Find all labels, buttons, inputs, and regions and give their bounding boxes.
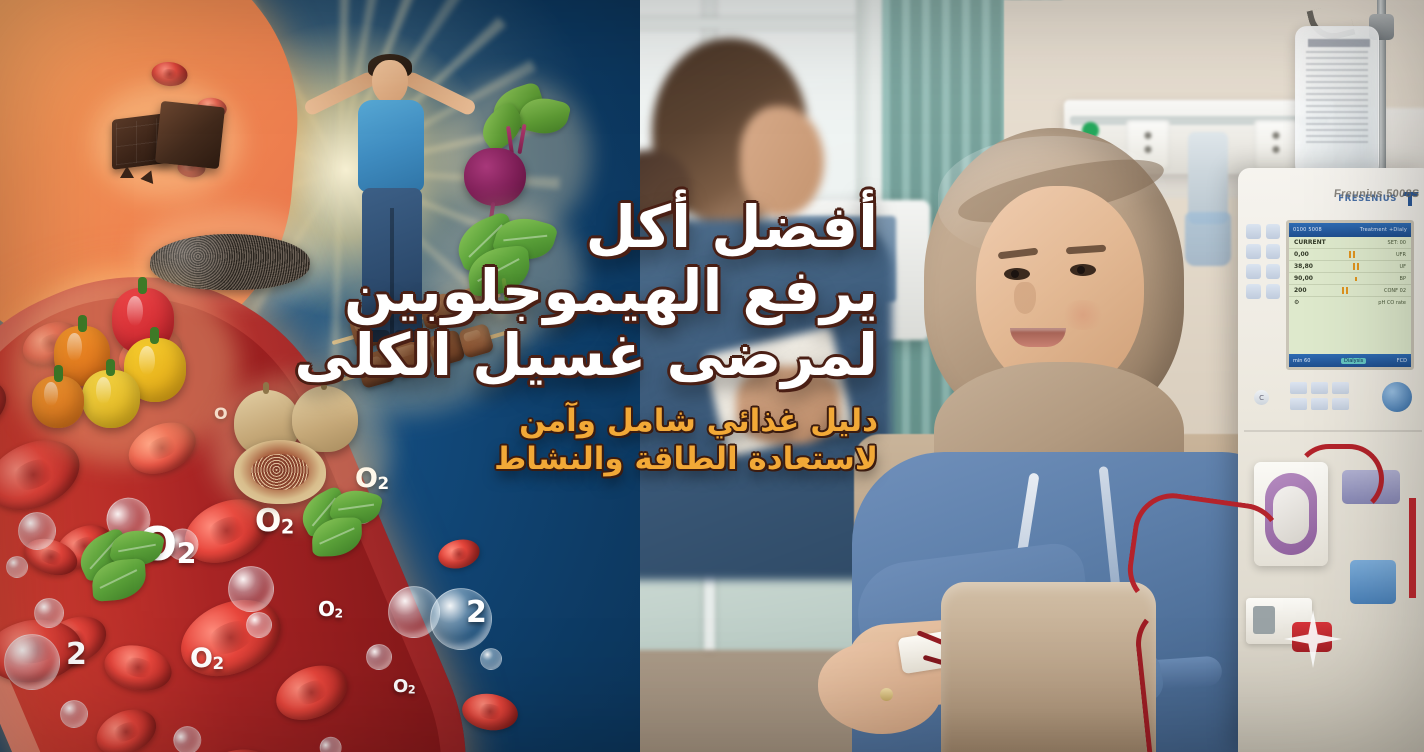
oxygen-label-partial: 2 [466, 595, 486, 630]
screen-footer-badge: Dialysis [1341, 358, 1366, 364]
screen-header-right: 5008 0100 [1293, 227, 1322, 233]
chair-armrest [941, 582, 1156, 752]
screen-row-value: ⚙ [1294, 299, 1299, 306]
man-head [372, 60, 408, 104]
screen-row-label: pH CO rate [1378, 300, 1406, 306]
oxygen-bubble [60, 700, 88, 728]
dark-chocolate [108, 94, 228, 186]
dialysis-machine: FRESENIUS Freunius 5008S Treatment +Dial… [1238, 168, 1424, 752]
screen-row-label: UF [1399, 264, 1406, 270]
headline-line-1: أفضل أكل [528, 196, 878, 260]
screen-row: BP 90,00 [1289, 273, 1411, 285]
iv-bag-label [1306, 51, 1368, 147]
oxygen-label: O2 [318, 597, 343, 621]
headline-line-3: لمرضى غسيل الكلى [528, 324, 878, 388]
oxygen-bubble [246, 612, 272, 638]
screen-row-value: 200 [1294, 287, 1307, 294]
headline-line-2: يرفع الهيموجلوبين [528, 260, 878, 324]
screen-row-label: BP [1400, 276, 1406, 282]
screen-row-label: UFR [1396, 252, 1406, 258]
page-title: أفضل أكل يرفع الهيموجلوبين لمرضى غسيل ال… [528, 196, 878, 387]
screen-row-value: 38,80 [1294, 263, 1313, 270]
subtitle-line-1: دليل غذائي شامل وآمن [528, 403, 878, 441]
screen-row: CONF 02 200 [1289, 285, 1411, 297]
screen-row-bars [1349, 251, 1355, 258]
oxygen-bubble [366, 644, 392, 670]
screen-footer-left: FCD [1397, 358, 1407, 364]
screen-footer-time: 60 min [1293, 358, 1310, 364]
arterial-clamp [1350, 560, 1396, 604]
oxygen-bubble [228, 566, 274, 612]
screen-field-value: CURRENT [1294, 239, 1326, 246]
oxygen-label: O2 [393, 676, 415, 697]
subtitle-line-2: لاستعادة الطاقة والنشاط [528, 441, 878, 479]
screen-row: UF 38,80 [1289, 261, 1411, 273]
machine-model: Freunius 5008S [1334, 188, 1421, 200]
blood-tubing [1409, 498, 1416, 598]
screen-row-bars [1353, 263, 1359, 270]
screen-row-bars [1342, 287, 1348, 294]
screen-field-label: SET: 00 [1388, 240, 1406, 246]
oxygen-bubble [480, 648, 502, 670]
screen-row-value: 90,00 [1294, 275, 1313, 282]
man-shirt [358, 100, 424, 192]
screen-row-label: CONF 02 [1384, 288, 1406, 294]
machine-screen[interactable]: Treatment +Dialy 5008 0100 SET: 00 CURRE… [1286, 220, 1414, 370]
ring [880, 688, 893, 701]
blood-tubing [1294, 444, 1384, 514]
machine-keypad[interactable] [1290, 382, 1349, 410]
oxygen-bubble [4, 634, 60, 690]
screen-row-value: 0,00 [1294, 251, 1309, 258]
machine-control-knob[interactable] [1382, 382, 1412, 412]
screen-header-left: Treatment +Dialy [1360, 227, 1407, 233]
subtitle: دليل غذائي شامل وآمن لاستعادة الطاقة وال… [528, 403, 878, 479]
oxygen-bubble [18, 512, 56, 550]
machine-side-keys[interactable] [1246, 224, 1280, 299]
oxygen-bubble [6, 556, 28, 578]
iv-fluid-bag [1295, 26, 1379, 184]
headline-block: أفضل أكل يرفع الهيموجلوبين لمرضى غسيل ال… [528, 196, 878, 479]
screen-row: pH CO rate ⚙ [1289, 297, 1411, 308]
spinach-sprig [78, 530, 168, 610]
bell-peppers [28, 284, 218, 444]
poster-root: FRESENIUS Freunius 5008S Treatment +Dial… [0, 0, 1424, 752]
oxygen-bubble [34, 598, 64, 628]
screen-row: UFR 0,00 [1289, 249, 1411, 261]
machine-confirm-button[interactable]: C [1254, 390, 1269, 405]
screen-row-bars [1355, 277, 1357, 281]
oxygen-label-partial: 2 [66, 637, 86, 672]
spinach-sprig [300, 490, 386, 568]
oxygen-label: O2 [190, 643, 224, 674]
